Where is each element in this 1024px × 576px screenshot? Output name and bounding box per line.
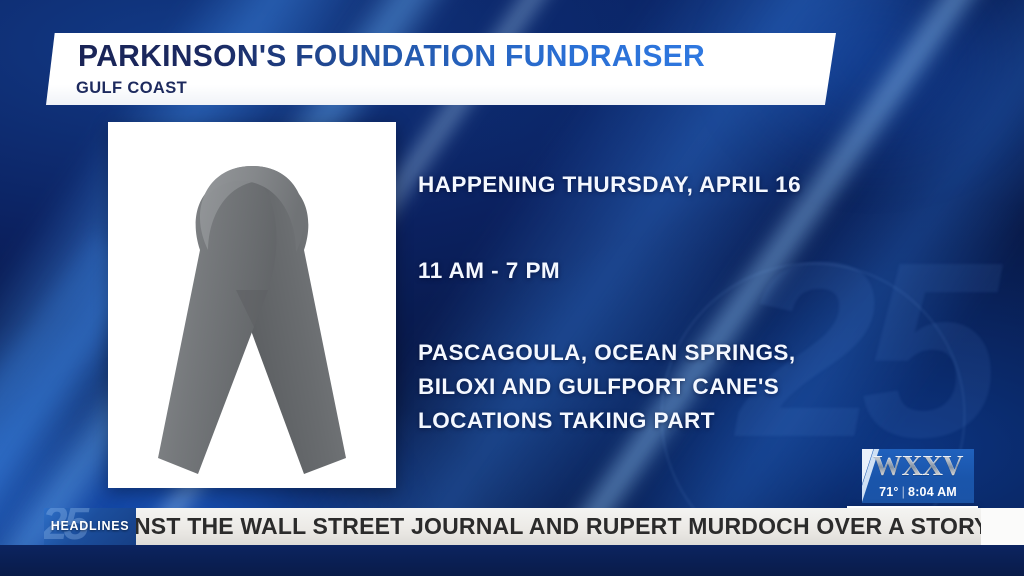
gray-awareness-ribbon-icon xyxy=(108,122,396,488)
ticker-end-gap xyxy=(981,508,1024,545)
ribbon-image-panel xyxy=(108,122,396,488)
ticker-badge-label: HEADLINES xyxy=(44,519,136,533)
news-ticker: NST THE WALL STREET JOURNAL AND RUPERT M… xyxy=(44,508,1024,545)
detail-line-locations-2: BILOXI AND GULFPORT CANE'S xyxy=(418,370,888,404)
station-bug: WXXV 71°|8:04 AM xyxy=(862,449,974,503)
detail-line-date: HAPPENING THURSDAY, APRIL 16 xyxy=(418,168,888,202)
station-callsign: WXXV xyxy=(862,450,974,483)
detail-line-time: 11 AM - 7 PM xyxy=(418,254,888,288)
bottom-band xyxy=(0,545,1024,576)
bug-separator: | xyxy=(902,485,905,499)
ticker-badge: 25 HEADLINES xyxy=(44,508,136,545)
temperature-readout: 71° xyxy=(879,485,899,499)
event-details: HAPPENING THURSDAY, APRIL 16 11 AM - 7 P… xyxy=(418,168,888,438)
page-subtitle: GULF COAST xyxy=(76,78,187,98)
clock-readout: 8:04 AM xyxy=(908,485,957,499)
ticker-headline-text: NST THE WALL STREET JOURNAL AND RUPERT M… xyxy=(136,513,1014,540)
station-bug-info: 71°|8:04 AM xyxy=(862,485,974,499)
detail-line-locations-3: LOCATIONS TAKING PART xyxy=(418,404,888,438)
detail-line-locations-1: PASCAGOULA, OCEAN SPRINGS, xyxy=(418,336,888,370)
ticker-text-strip: NST THE WALL STREET JOURNAL AND RUPERT M… xyxy=(136,508,1024,545)
page-title: PARKINSON'S FOUNDATION FUNDRAISER xyxy=(78,38,705,74)
broadcast-screen: 25 PARKINSON'S FOUNDATION FUNDRAISER GUL… xyxy=(0,0,1024,576)
